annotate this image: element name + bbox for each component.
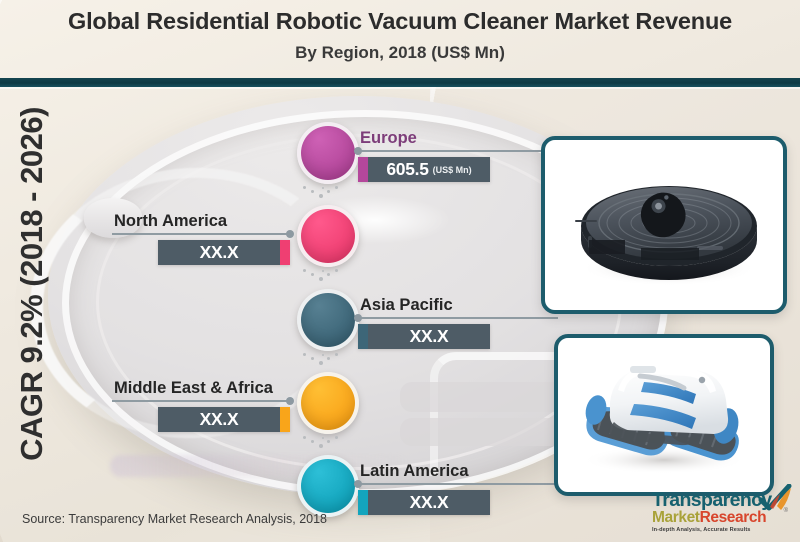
logo-checkmark-icon	[757, 484, 793, 514]
logo-tagline: In-depth Analysis, Accurate Results	[652, 527, 787, 533]
value-bar-accent	[280, 240, 290, 265]
region-value-bar-europe: 605.5(US$ Mn)	[358, 157, 490, 182]
region-circle-north-america[interactable]	[297, 205, 359, 267]
region-leader-line-latin-america	[358, 483, 558, 485]
region-value-bar-asia-pacific: XX.X	[358, 324, 490, 349]
page-subtitle: By Region, 2018 (US$ Mn)	[0, 43, 800, 63]
round-vacuum-illustration	[545, 140, 783, 310]
connector-dots	[301, 436, 345, 454]
product-image-box-round-vacuum	[541, 136, 787, 314]
source-note: Source: Transparency Market Research Ana…	[22, 512, 327, 526]
value-bar-body: XX.X	[158, 407, 280, 432]
page-title: Global Residential Robotic Vacuum Cleane…	[0, 8, 800, 35]
region-value-bar-middle-east-africa: XX.X	[158, 407, 290, 432]
region-name-europe: Europe	[358, 128, 558, 148]
region-circle-asia-pacific[interactable]	[297, 289, 359, 351]
region-value-unit-europe: (US$ Mn)	[433, 165, 472, 175]
infographic-root: Global Residential Robotic Vacuum Cleane…	[0, 0, 800, 542]
region-leader-line-middle-east-africa	[112, 400, 290, 402]
region-callout-north-america: North AmericaXX.X	[112, 211, 290, 265]
region-value-asia-pacific: XX.X	[410, 326, 449, 347]
value-bar-accent	[358, 324, 368, 349]
transparency-market-research-logo: Transparency MarketResearch In-depth Ana…	[652, 490, 787, 536]
region-circle-europe[interactable]	[297, 122, 359, 184]
region-value-bar-north-america: XX.X	[158, 240, 290, 265]
value-bar-body: XX.X	[158, 240, 280, 265]
value-bar-accent	[280, 407, 290, 432]
cagr-label: CAGR 9.2% (2018 - 2026)	[14, 74, 70, 494]
region-value-latin-america: XX.X	[410, 492, 449, 513]
header-divider	[0, 78, 800, 87]
region-name-latin-america: Latin America	[358, 461, 558, 481]
connector-dots	[301, 269, 345, 287]
value-bar-accent	[358, 157, 368, 182]
header-divider-shine	[0, 87, 800, 89]
logo-word-market: Market	[652, 509, 700, 526]
value-bar-body: 605.5(US$ Mn)	[368, 157, 490, 182]
tracked-cleaner-illustration	[558, 338, 770, 492]
value-bar-body: XX.X	[368, 324, 490, 349]
connector-dots	[301, 353, 345, 371]
header: Global Residential Robotic Vacuum Cleane…	[0, 0, 800, 78]
region-value-europe: 605.5	[386, 159, 428, 180]
region-circle-latin-america[interactable]	[297, 455, 359, 517]
region-callout-latin-america: Latin AmericaXX.X	[358, 461, 558, 515]
region-callout-middle-east-africa: Middle East & AfricaXX.X	[112, 378, 290, 432]
region-value-middle-east-africa: XX.X	[200, 409, 239, 430]
product-image-box-tracked-cleaner	[554, 334, 774, 496]
region-leader-line-europe	[358, 150, 558, 152]
value-bar-body: XX.X	[368, 490, 490, 515]
region-name-middle-east-africa: Middle East & Africa	[112, 378, 290, 398]
region-value-bar-latin-america: XX.X	[358, 490, 490, 515]
value-bar-accent	[358, 490, 368, 515]
region-leader-line-asia-pacific	[358, 317, 558, 319]
region-name-asia-pacific: Asia Pacific	[358, 295, 558, 315]
region-callout-asia-pacific: Asia PacificXX.X	[358, 295, 558, 349]
region-name-north-america: North America	[112, 211, 290, 231]
region-circle-middle-east-africa[interactable]	[297, 372, 359, 434]
region-leader-line-north-america	[112, 233, 290, 235]
region-value-north-america: XX.X	[200, 242, 239, 263]
connector-dots	[301, 186, 345, 204]
region-callout-europe: Europe605.5(US$ Mn)	[358, 128, 558, 182]
